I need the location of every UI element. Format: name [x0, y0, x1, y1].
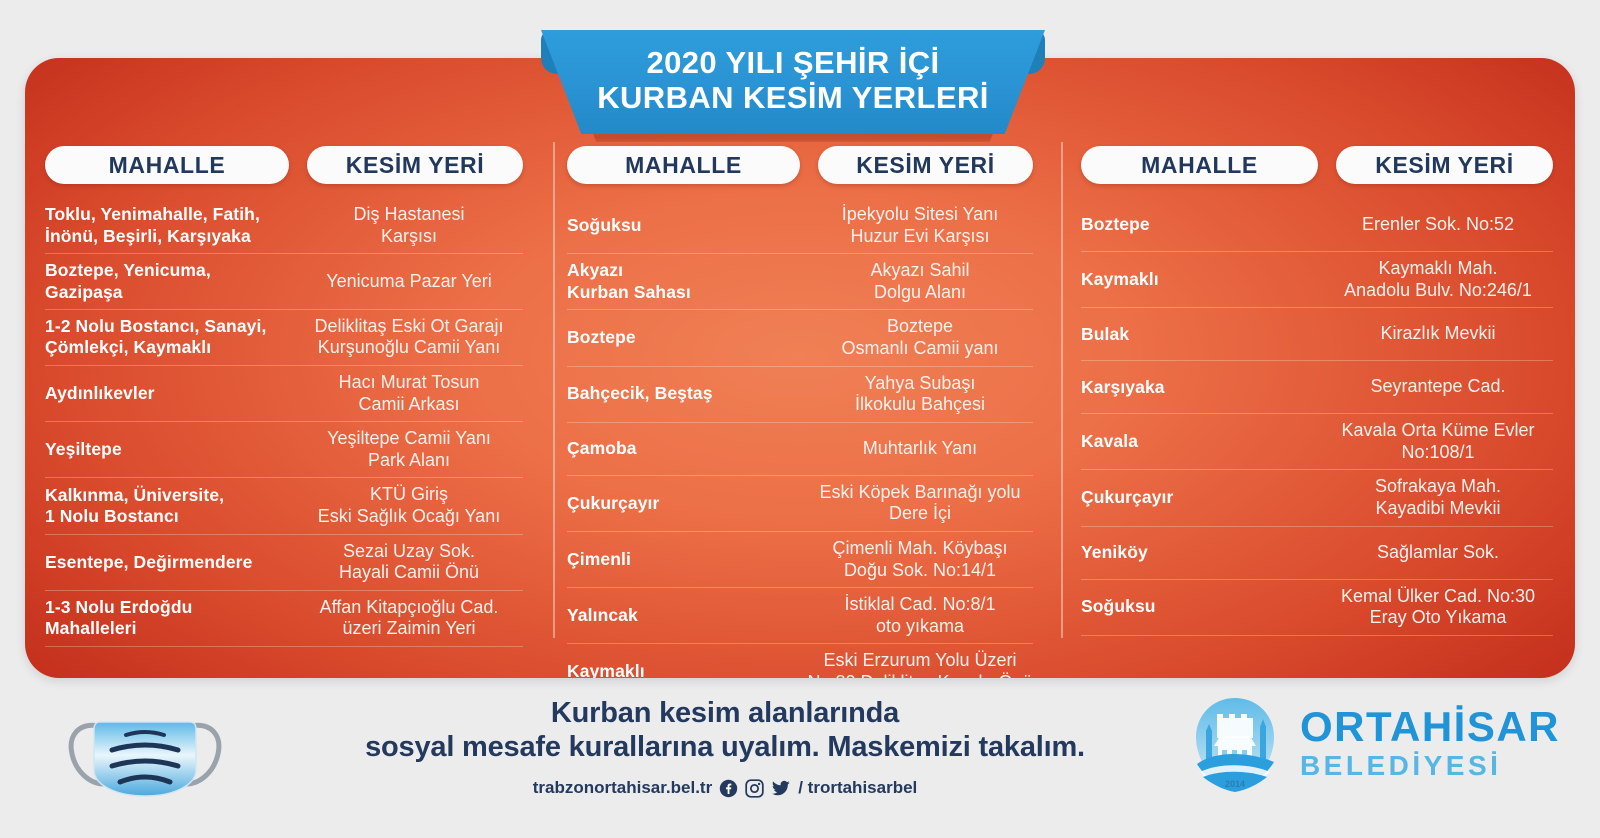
mahalle-cell: Kaymaklı	[567, 661, 807, 678]
ortahisar-belediyesi-logo[interactable]: 2014 ORTAHİSAR BELEDİYESİ	[1184, 692, 1560, 794]
mahalle-cell: Boztepe	[1081, 214, 1323, 235]
kesim-yeri-cell: Eski Erzurum Yolu ÜzeriNo:80 Deliklitaş …	[807, 650, 1033, 678]
kesim-yeri-cell: Yahya Subaşıİlkokulu Bahçesi	[807, 373, 1033, 416]
header-mahalle-1: MAHALLE	[45, 146, 289, 184]
table-row: ÇukurçayırSofrakaya Mah.Kayadibi Mevkii	[1081, 469, 1553, 525]
header-kesim-yeri-1: KESİM YERİ	[307, 146, 523, 184]
infographic-root: MAHALLE KESİM YERİ Toklu, Yenimahalle, F…	[0, 0, 1600, 838]
logo-name-secondary: BELEDİYESİ	[1300, 752, 1560, 780]
table-row: 1-2 Nolu Bostancı, Sanayi,Çömlekçi, Kaym…	[45, 309, 523, 365]
kesim-yeri-cell: Erenler Sok. No:52	[1323, 214, 1553, 236]
kesim-yeri-cell: Yeşiltepe Camii YanıPark Alanı	[295, 428, 523, 471]
mahalle-cell: Toklu, Yenimahalle, Fatih,İnönü, Beşirli…	[45, 204, 295, 247]
table-row: ÇimenliÇimenli Mah. KöybaşıDoğu Sok. No:…	[567, 531, 1033, 587]
header-kesim-yeri-3: KESİM YERİ	[1336, 146, 1553, 184]
table-row: AkyazıKurban SahasıAkyazı SahilDolgu Ala…	[567, 253, 1033, 309]
column-2-header-row: MAHALLE KESİM YERİ	[561, 146, 1039, 184]
kesim-yeri-cell: Muhtarlık Yanı	[807, 438, 1033, 460]
kesim-yeri-cell: Yenicuma Pazar Yeri	[295, 271, 523, 293]
table-row: Kalkınma, Üniversite,1 Nolu BostancıKTÜ …	[45, 477, 523, 533]
website-url[interactable]: trabzonortahisar.bel.tr	[533, 778, 712, 798]
table-row: KavalaKavala Orta Küme EvlerNo:108/1	[1081, 413, 1553, 469]
kesim-yeri-cell: Kirazlık Mevkii	[1323, 323, 1553, 345]
table-row: KaymaklıKaymaklı Mah.Anadolu Bulv. No:24…	[1081, 251, 1553, 307]
mahalle-cell: Kavala	[1081, 431, 1323, 452]
table-row: Soğuksuİpekyolu Sitesi YanıHuzur Evi Kar…	[567, 198, 1033, 253]
table-row: 1-3 Nolu ErdoğduMahalleleriAffan Kitapçı…	[45, 590, 523, 647]
header-mahalle-3: MAHALLE	[1081, 146, 1318, 184]
column-1-header-row: MAHALLE KESİM YERİ	[39, 146, 529, 184]
table-row: KaymaklıEski Erzurum Yolu ÜzeriNo:80 Del…	[567, 643, 1033, 678]
kesim-yeri-cell: Eski Köpek Barınağı yoluDere İçi	[807, 482, 1033, 525]
kesim-yeri-cell: Hacı Murat TosunCamii Arkası	[295, 372, 523, 415]
table-row: KarşıyakaSeyrantepe Cad.	[1081, 360, 1553, 413]
slogan-line-2: sosyal mesafe kurallarına uyalım. Maskem…	[365, 730, 1085, 764]
kesim-yeri-cell: Kavala Orta Küme EvlerNo:108/1	[1323, 420, 1553, 463]
mahalle-cell: 1-2 Nolu Bostancı, Sanayi,Çömlekçi, Kaym…	[45, 316, 295, 359]
kesim-yeri-cell: Çimenli Mah. KöybaşıDoğu Sok. No:14/1	[807, 538, 1033, 581]
table-row: YeşiltepeYeşiltepe Camii YanıPark Alanı	[45, 421, 523, 477]
mahalle-cell: Çukurçayır	[1081, 487, 1323, 508]
twitter-icon[interactable]	[771, 779, 791, 798]
mahalle-cell: 1-3 Nolu ErdoğduMahalleleri	[45, 597, 295, 640]
kesim-yeri-cell: Sağlamlar Sok.	[1323, 542, 1553, 564]
kesim-yeri-cell: BoztepeOsmanlı Camii yanı	[807, 316, 1033, 359]
mahalle-cell: Aydınlıkevler	[45, 383, 295, 404]
kesim-yeri-cell: İpekyolu Sitesi YanıHuzur Evi Karşısı	[807, 204, 1033, 247]
mahalle-cell: Yalıncak	[567, 605, 807, 626]
footer-web-row: trabzonortahisar.bel.tr / trortahisarbel	[533, 778, 918, 798]
column-3-header-row: MAHALLE KESİM YERİ	[1075, 146, 1559, 184]
column-1: MAHALLE KESİM YERİ Toklu, Yenimahalle, F…	[25, 58, 541, 678]
table-row: SoğuksuKemal Ülker Cad. No:30Eray Oto Yı…	[1081, 579, 1553, 636]
title-line-1: 2020 YILI ŞEHİR İÇİ	[646, 45, 939, 80]
header-mahalle-2: MAHALLE	[567, 146, 800, 184]
table-row: Esentepe, DeğirmendereSezai Uzay Sok.Hay…	[45, 534, 523, 590]
instagram-icon[interactable]	[745, 779, 764, 798]
logo-name-primary: ORTAHİSAR	[1300, 706, 1560, 748]
mahalle-cell: Çamoba	[567, 438, 807, 459]
kesim-yeri-cell: Sofrakaya Mah.Kayadibi Mevkii	[1323, 476, 1553, 519]
kesim-yeri-cell: Diş HastanesiKarşısı	[295, 204, 523, 247]
emblem-year: 2014	[1225, 779, 1245, 789]
footer: Kurban kesim alanlarında sosyal mesafe k…	[0, 678, 1600, 838]
table-row: BoztepeBoztepeOsmanlı Camii yanı	[567, 309, 1033, 365]
table-row: ÇukurçayırEski Köpek Barınağı yoluDere İ…	[567, 475, 1033, 531]
column-2-rows: Soğuksuİpekyolu Sitesi YanıHuzur Evi Kar…	[561, 198, 1039, 678]
slogan-line-1: Kurban kesim alanlarında	[551, 696, 899, 730]
logo-text: ORTAHİSAR BELEDİYESİ	[1300, 706, 1560, 780]
kesim-yeri-cell: Akyazı SahilDolgu Alanı	[807, 260, 1033, 303]
column-2: MAHALLE KESİM YERİ Soğuksuİpekyolu Sites…	[541, 58, 1053, 678]
ribbon-body: 2020 YILI ŞEHİR İÇİ KURBAN KESİM YERLERİ	[541, 30, 1045, 134]
kesim-yeri-cell: Sezai Uzay Sok.Hayali Camii Önü	[295, 541, 523, 584]
columns-container: MAHALLE KESİM YERİ Toklu, Yenimahalle, F…	[25, 58, 1575, 678]
kesim-yeri-cell: Affan Kitapçıoğlu Cad.üzeri Zaimin Yeri	[295, 597, 523, 640]
social-handle[interactable]: / trortahisarbel	[798, 778, 917, 798]
mahalle-cell: AkyazıKurban Sahası	[567, 260, 807, 303]
kesim-yeri-cell: Seyrantepe Cad.	[1323, 376, 1553, 398]
facebook-icon[interactable]	[719, 779, 738, 798]
title-line-2: KURBAN KESİM YERLERİ	[597, 80, 989, 115]
mahalle-cell: Soğuksu	[567, 215, 807, 236]
mahalle-cell: Boztepe, Yenicuma,Gazipaşa	[45, 260, 295, 303]
kesim-yeri-cell: İstiklal Cad. No:8/1oto yıkama	[807, 594, 1033, 637]
table-row: Bahçecik, BeştaşYahya Subaşıİlkokulu Bah…	[567, 366, 1033, 422]
column-3: MAHALLE KESİM YERİ BoztepeErenler Sok. N…	[1053, 58, 1575, 678]
mahalle-cell: Kaymaklı	[1081, 269, 1323, 290]
mahalle-cell: Karşıyaka	[1081, 377, 1323, 398]
surgical-mask-icon	[60, 692, 230, 812]
mahalle-cell: Çukurçayır	[567, 493, 807, 514]
mahalle-cell: Bahçecik, Beştaş	[567, 383, 807, 404]
table-row: Boztepe, Yenicuma,GazipaşaYenicuma Pazar…	[45, 253, 523, 309]
column-3-rows: BoztepeErenler Sok. No:52KaymaklıKaymakl…	[1075, 198, 1559, 636]
main-red-panel: MAHALLE KESİM YERİ Toklu, Yenimahalle, F…	[25, 58, 1575, 678]
footer-center: Kurban kesim alanlarında sosyal mesafe k…	[250, 696, 1200, 798]
table-row: BulakKirazlık Mevkii	[1081, 307, 1553, 360]
mahalle-cell: Bulak	[1081, 324, 1323, 345]
mahalle-cell: Çimenli	[567, 549, 807, 570]
header-kesim-yeri-2: KESİM YERİ	[818, 146, 1033, 184]
kesim-yeri-cell: Kaymaklı Mah.Anadolu Bulv. No:246/1	[1323, 258, 1553, 301]
kesim-yeri-cell: Deliklitaş Eski Ot GarajıKurşunoğlu Cami…	[295, 316, 523, 359]
kesim-yeri-cell: KTÜ GirişEski Sağlık Ocağı Yanı	[295, 484, 523, 527]
table-row: YeniköySağlamlar Sok.	[1081, 526, 1553, 579]
table-row: Yalıncakİstiklal Cad. No:8/1oto yıkama	[567, 587, 1033, 643]
title-ribbon: 2020 YILI ŞEHİR İÇİ KURBAN KESİM YERLERİ	[533, 22, 1053, 144]
mahalle-cell: Soğuksu	[1081, 596, 1323, 617]
table-row: BoztepeErenler Sok. No:52	[1081, 198, 1553, 251]
table-row: AydınlıkevlerHacı Murat TosunCamii Arkas…	[45, 365, 523, 421]
column-1-rows: Toklu, Yenimahalle, Fatih,İnönü, Beşirli…	[39, 198, 529, 647]
table-row: ÇamobaMuhtarlık Yanı	[567, 422, 1033, 475]
mahalle-cell: Kalkınma, Üniversite,1 Nolu Bostancı	[45, 485, 295, 528]
kesim-yeri-cell: Kemal Ülker Cad. No:30Eray Oto Yıkama	[1323, 586, 1553, 629]
mahalle-cell: Yeşiltepe	[45, 439, 295, 460]
mahalle-cell: Esentepe, Değirmendere	[45, 552, 295, 573]
table-row: Toklu, Yenimahalle, Fatih,İnönü, Beşirli…	[45, 198, 523, 253]
mahalle-cell: Boztepe	[567, 327, 807, 348]
mahalle-cell: Yeniköy	[1081, 542, 1323, 563]
municipality-emblem-icon: 2014	[1184, 692, 1286, 794]
